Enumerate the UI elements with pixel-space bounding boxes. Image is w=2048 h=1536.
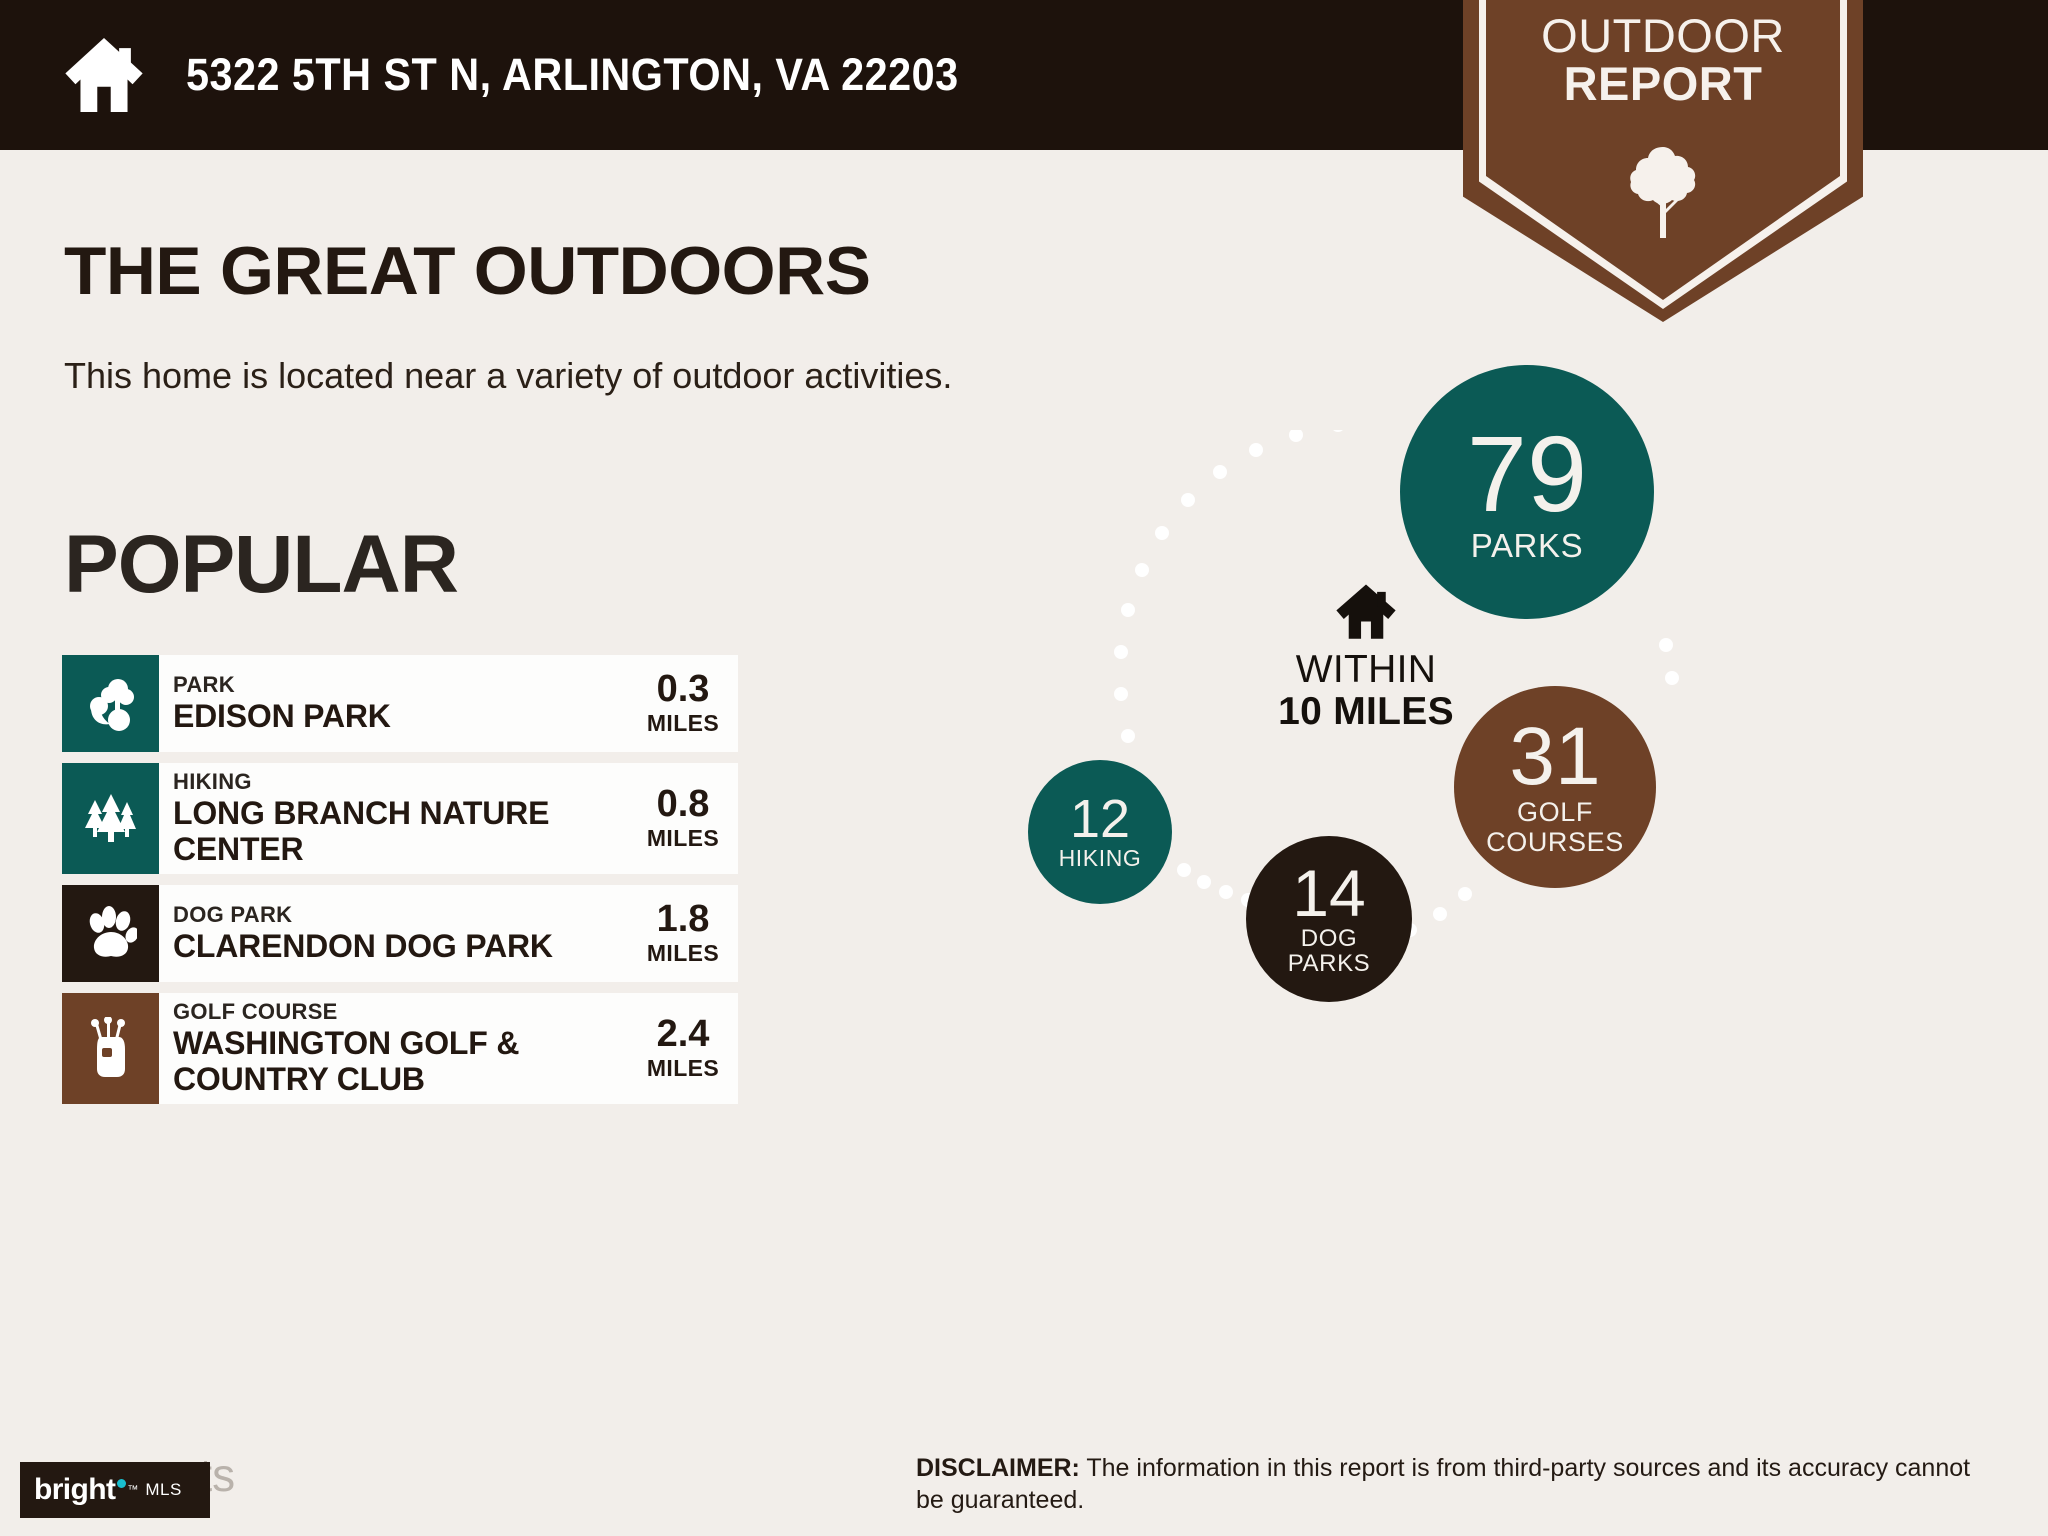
poi-distance-value: 0.3 — [642, 670, 724, 710]
page-title: THE GREAT OUTDOORS — [64, 232, 870, 310]
bubble-dogparks-value: 14 — [1292, 861, 1365, 926]
popular-section-heading: POPULAR — [64, 518, 458, 612]
outdoor-report-badge: OUTDOOR REPORT — [1463, 0, 1863, 322]
poi-distance-unit: MILES — [642, 1055, 724, 1082]
list-item[interactable]: PARK EDISON PARK 0.3 MILES — [62, 655, 738, 752]
list-item[interactable]: DOG PARK CLARENDON DOG PARK 1.8 MILES — [62, 885, 738, 982]
poi-distance: 1.8 MILES — [642, 900, 738, 967]
home-icon — [62, 33, 146, 117]
poi-icon-tile — [62, 993, 159, 1104]
bubble-hiking-label: HIKING — [1059, 847, 1142, 871]
bubble-golf-courses[interactable]: 31 GOLF COURSES — [1454, 686, 1656, 888]
poi-text: GOLF COURSE WASHINGTON GOLF & COUNTRY CL… — [173, 999, 642, 1098]
logo-dot-icon — [117, 1479, 126, 1488]
bubble-dog-parks[interactable]: 14 DOG PARKS — [1246, 836, 1412, 1002]
park-trees-icon — [84, 676, 138, 732]
diagram-center-label: WITHIN 10 MILES — [1256, 582, 1476, 733]
poi-body: PARK EDISON PARK 0.3 MILES — [159, 655, 738, 752]
poi-distance-value: 1.8 — [642, 900, 724, 940]
poi-category: PARK — [173, 672, 642, 698]
poi-name: LONG BRANCH NATURE CENTER — [173, 795, 642, 868]
poi-distance-value: 0.8 — [642, 785, 724, 825]
logo-trademark: ™ — [127, 1484, 138, 1496]
poi-body: DOG PARK CLARENDON DOG PARK 1.8 MILES — [159, 885, 738, 982]
golf-bag-icon — [88, 1017, 134, 1079]
bubble-dogparks-label-line1: DOG — [1301, 927, 1357, 952]
poi-name: CLARENDON DOG PARK — [173, 928, 642, 964]
bubble-golf-value: 31 — [1509, 717, 1600, 797]
within-label-line2: 10 MILES — [1256, 691, 1476, 733]
poi-distance: 2.4 MILES — [642, 1015, 738, 1082]
bubble-golf-label-line2: COURSES — [1486, 829, 1624, 857]
bright-mls-logo: bright™MLS — [20, 1462, 210, 1518]
poi-name: WASHINGTON GOLF & COUNTRY CLUB — [173, 1025, 642, 1098]
poi-icon-tile — [62, 763, 159, 874]
home-icon — [1335, 582, 1397, 640]
popular-list: PARK EDISON PARK 0.3 MILES HIKING — [62, 655, 738, 1115]
disclaimer-label: DISCLAIMER: — [916, 1454, 1080, 1482]
bubble-parks-value: 79 — [1467, 421, 1587, 527]
poi-category: GOLF COURSE — [173, 999, 642, 1025]
within-label-line1: WITHIN — [1256, 650, 1476, 691]
badge-title-line1: OUTDOOR — [1463, 12, 1863, 60]
bubble-parks[interactable]: 79 PARKS — [1400, 365, 1654, 619]
logo-bright-word: bright — [34, 1473, 115, 1507]
poi-distance-unit: MILES — [642, 940, 724, 967]
disclaimer: DISCLAIMER: The information in this repo… — [916, 1452, 1986, 1516]
badge-title-line2: REPORT — [1463, 60, 1863, 108]
poi-category: HIKING — [173, 769, 642, 795]
poi-distance-unit: MILES — [642, 825, 724, 852]
poi-category: DOG PARK — [173, 902, 642, 928]
poi-text: PARK EDISON PARK — [173, 672, 642, 734]
bubble-golf-label-line1: GOLF — [1517, 799, 1593, 827]
poi-icon-tile — [62, 885, 159, 982]
poi-icon-tile — [62, 655, 159, 752]
poi-distance: 0.3 MILES — [642, 670, 738, 737]
bubble-hiking-value: 12 — [1070, 793, 1130, 846]
header-bar: 5322 5TH ST N, ARLINGTON, VA 22203 — [0, 0, 1456, 150]
logo-mls-word: MLS — [145, 1480, 181, 1500]
paw-print-icon — [85, 906, 137, 960]
poi-body: GOLF COURSE WASHINGTON GOLF & COUNTRY CL… — [159, 993, 738, 1104]
poi-distance-value: 2.4 — [642, 1015, 724, 1055]
poi-text: DOG PARK CLARENDON DOG PARK — [173, 902, 642, 964]
bubble-hiking[interactable]: 12 HIKING — [1028, 760, 1172, 904]
page-subtitle: This home is located near a variety of o… — [64, 355, 952, 397]
amenity-bubble-chart: 79 PARKS 31 GOLF COURSES 14 DOG PARKS 12… — [1080, 430, 1980, 1130]
list-item[interactable]: GOLF COURSE WASHINGTON GOLF & COUNTRY CL… — [62, 993, 738, 1104]
poi-text: HIKING LONG BRANCH NATURE CENTER — [173, 769, 642, 868]
badge-title: OUTDOOR REPORT — [1463, 12, 1863, 108]
pine-trees-icon — [82, 790, 140, 846]
poi-distance: 0.8 MILES — [642, 785, 738, 852]
poi-distance-unit: MILES — [642, 710, 724, 737]
poi-body: HIKING LONG BRANCH NATURE CENTER 0.8 MIL… — [159, 763, 738, 874]
bubble-parks-label: PARKS — [1471, 529, 1583, 563]
poi-name: EDISON PARK — [173, 698, 642, 734]
bubble-dogparks-label-line2: PARKS — [1288, 952, 1371, 977]
list-item[interactable]: HIKING LONG BRANCH NATURE CENTER 0.8 MIL… — [62, 763, 738, 874]
property-address: 5322 5TH ST N, ARLINGTON, VA 22203 — [186, 49, 959, 101]
tree-icon — [1627, 142, 1699, 242]
